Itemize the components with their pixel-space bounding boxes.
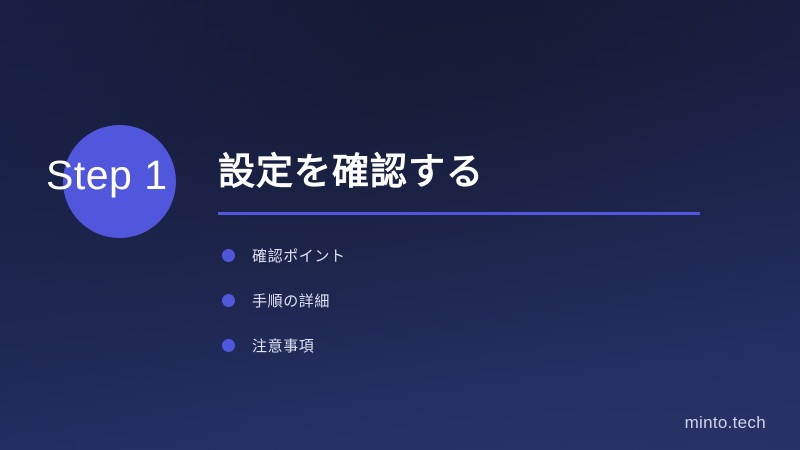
title-divider (218, 212, 700, 215)
bullet-dot-icon (222, 249, 235, 262)
list-item-label: 注意事項 (252, 335, 314, 356)
list-item-label: 確認ポイント (252, 245, 346, 266)
slide-title: 設定を確認する (218, 148, 484, 196)
list-item: 確認ポイント (222, 233, 346, 278)
list-item-label: 手順の詳細 (252, 290, 330, 311)
footer-brand: minto.tech (685, 413, 766, 433)
slide-canvas: Step 1 設定を確認する 確認ポイント 手順の詳細 注意事項 minto.t… (0, 0, 800, 450)
list-item: 注意事項 (222, 323, 346, 368)
bullet-dot-icon (222, 294, 235, 307)
step-badge-label: Step 1 (46, 152, 168, 198)
list-item: 手順の詳細 (222, 278, 346, 323)
bullet-list: 確認ポイント 手順の詳細 注意事項 (222, 233, 346, 368)
bullet-dot-icon (222, 339, 235, 352)
